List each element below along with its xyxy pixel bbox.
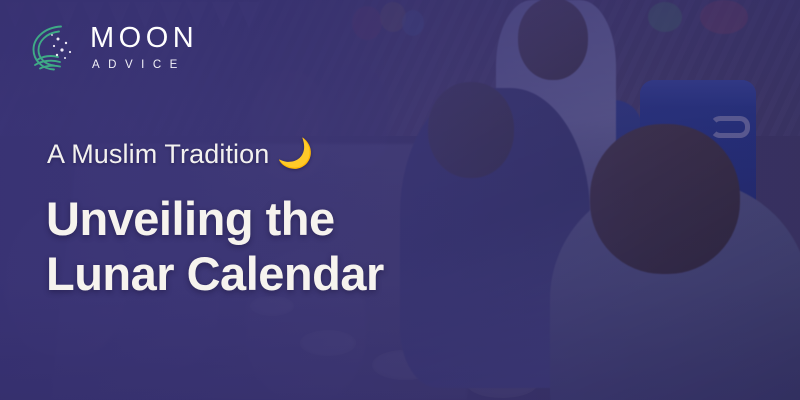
hero-title-line-2: Lunar Calendar bbox=[46, 247, 384, 302]
brand-name-primary: MOON bbox=[90, 24, 198, 53]
hero-eyebrow: A Muslim Tradition 🌙 bbox=[47, 139, 314, 170]
brand-name-secondary: ADVICE bbox=[92, 60, 198, 72]
crescent-moon-stars-icon bbox=[28, 22, 80, 74]
hero-banner: MOON ADVICE A Muslim Tradition 🌙 Unveili… bbox=[0, 0, 800, 400]
hero-title-line-1: Unveiling the bbox=[46, 192, 384, 247]
crescent-moon-emoji: 🌙 bbox=[277, 140, 313, 169]
hero-content: MOON ADVICE A Muslim Tradition 🌙 Unveili… bbox=[0, 0, 800, 400]
hero-eyebrow-text: A Muslim Tradition bbox=[47, 139, 269, 170]
brand-logo[interactable]: MOON ADVICE bbox=[28, 22, 198, 74]
hero-title: Unveiling the Lunar Calendar bbox=[46, 192, 384, 301]
